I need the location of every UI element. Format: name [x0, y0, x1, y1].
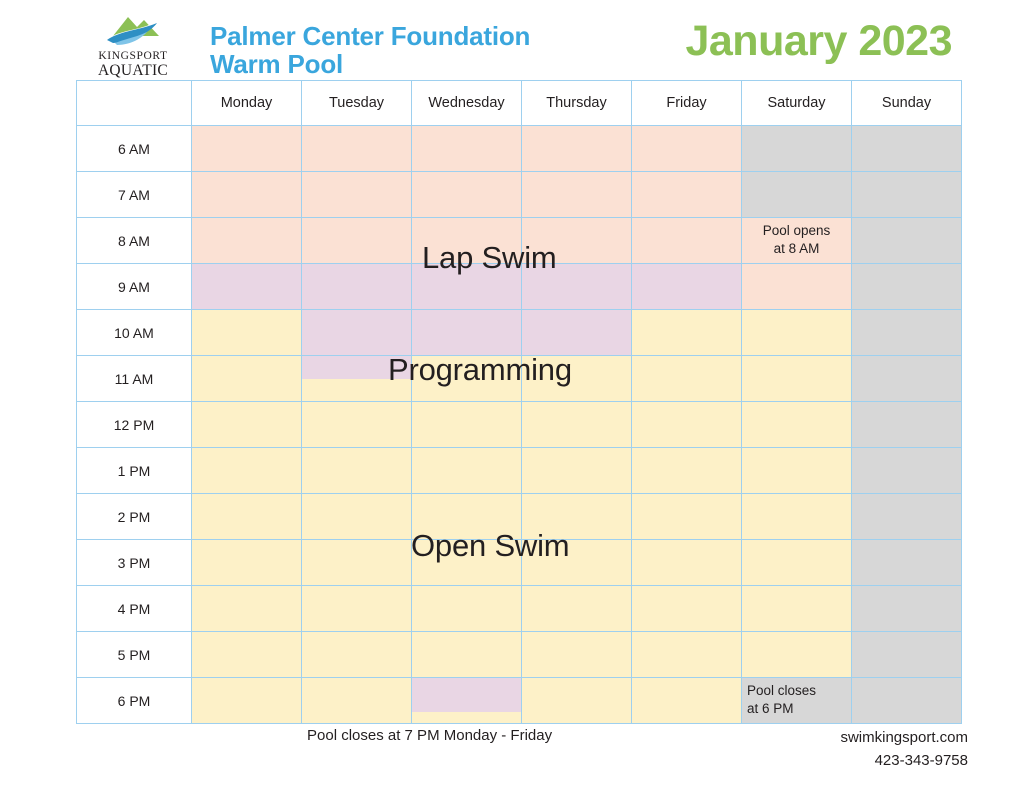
- slot-monday-9-am[interactable]: [192, 264, 302, 310]
- slot-monday-6-pm[interactable]: [192, 678, 302, 724]
- table-header-row: Monday Tuesday Wednesday Thursday Friday…: [77, 81, 962, 126]
- slot-wednesday-4-pm[interactable]: [412, 586, 522, 632]
- time-label-10-am: 10 AM: [77, 310, 192, 356]
- slot-monday-8-am[interactable]: [192, 218, 302, 264]
- time-label-6-pm: 6 PM: [77, 678, 192, 724]
- slot-saturday-1-pm[interactable]: [742, 448, 852, 494]
- slot-friday-4-pm[interactable]: [632, 586, 742, 632]
- slot-sunday-1-pm[interactable]: [852, 448, 962, 494]
- table-row: 6 PMPool closesat 6 PM: [77, 678, 962, 724]
- table-row: 12 PM: [77, 402, 962, 448]
- slot-sunday-6-am[interactable]: [852, 126, 962, 172]
- table-row: 4 PM: [77, 586, 962, 632]
- page-title-line-2: Warm Pool: [210, 50, 530, 78]
- slot-sunday-7-am[interactable]: [852, 172, 962, 218]
- header-cell-monday: Monday: [192, 81, 302, 126]
- slot-friday-6-pm[interactable]: [632, 678, 742, 724]
- time-label-4-pm: 4 PM: [77, 586, 192, 632]
- note-pool-closes-line-2: at 6 PM: [747, 700, 848, 718]
- time-label-6-am: 6 AM: [77, 126, 192, 172]
- slot-thursday-5-pm[interactable]: [522, 632, 632, 678]
- page-title-line-1: Palmer Center Foundation: [210, 22, 530, 50]
- slot-tuesday-6-pm[interactable]: [302, 678, 412, 724]
- slot-tuesday-10-am[interactable]: [302, 310, 412, 356]
- table-row: 1 PM: [77, 448, 962, 494]
- slot-thursday-10-am[interactable]: [522, 310, 632, 356]
- slot-saturday-5-pm[interactable]: [742, 632, 852, 678]
- slot-wednesday-5-pm[interactable]: [412, 632, 522, 678]
- time-label-2-pm: 2 PM: [77, 494, 192, 540]
- header-cell-friday: Friday: [632, 81, 742, 126]
- time-label-7-am: 7 AM: [77, 172, 192, 218]
- slot-tuesday-9-am[interactable]: [302, 264, 412, 310]
- slot-sunday-11-am[interactable]: [852, 356, 962, 402]
- schedule-body: 6 AM7 AM8 AMPool opensat 8 AM9 AM10 AM11…: [77, 126, 962, 724]
- slot-friday-6-am[interactable]: [632, 126, 742, 172]
- note-pool-opens-line-1: Pool opens: [745, 222, 848, 240]
- slot-sunday-6-pm[interactable]: [852, 678, 962, 724]
- slot-friday-1-pm[interactable]: [632, 448, 742, 494]
- header-cell-tuesday: Tuesday: [302, 81, 412, 126]
- band-label-programming: Programming: [388, 352, 572, 388]
- slot-thursday-12-pm[interactable]: [522, 402, 632, 448]
- slot-sunday-4-pm[interactable]: [852, 586, 962, 632]
- slot-saturday-8-am[interactable]: Pool opensat 8 AM: [742, 218, 852, 264]
- note-pool-opens: Pool opensat 8 AM: [742, 218, 851, 258]
- slot-saturday-9-am[interactable]: [742, 264, 852, 310]
- table-row: 7 AM: [77, 172, 962, 218]
- slot-tuesday-3-pm[interactable]: [302, 540, 412, 586]
- slot-wednesday-6-pm[interactable]: [412, 678, 522, 724]
- table-row: 10 AM: [77, 310, 962, 356]
- table-row: 6 AM: [77, 126, 962, 172]
- footer-closing-note: Pool closes at 7 PM Monday - Friday: [307, 727, 552, 744]
- note-pool-closes: Pool closesat 6 PM: [742, 678, 851, 718]
- time-label-8-am: 8 AM: [77, 218, 192, 264]
- slot-friday-11-am[interactable]: [632, 356, 742, 402]
- slot-monday-11-am[interactable]: [192, 356, 302, 402]
- slot-friday-8-am[interactable]: [632, 218, 742, 264]
- note-pool-closes-line-1: Pool closes: [747, 682, 848, 700]
- slot-friday-3-pm[interactable]: [632, 540, 742, 586]
- partial-programming-block: [412, 678, 521, 712]
- time-label-1-pm: 1 PM: [77, 448, 192, 494]
- slot-tuesday-2-pm[interactable]: [302, 494, 412, 540]
- header-cell-time: [77, 81, 192, 126]
- slot-saturday-12-pm[interactable]: [742, 402, 852, 448]
- slot-sunday-12-pm[interactable]: [852, 402, 962, 448]
- slot-thursday-6-am[interactable]: [522, 126, 632, 172]
- slot-saturday-4-pm[interactable]: [742, 586, 852, 632]
- slot-saturday-6-am[interactable]: [742, 126, 852, 172]
- slot-friday-7-am[interactable]: [632, 172, 742, 218]
- footer-contact: swimkingsport.com 423-343-9758: [840, 727, 968, 772]
- slot-friday-2-pm[interactable]: [632, 494, 742, 540]
- slot-wednesday-6-am[interactable]: [412, 126, 522, 172]
- slot-monday-4-pm[interactable]: [192, 586, 302, 632]
- slot-monday-3-pm[interactable]: [192, 540, 302, 586]
- slot-sunday-5-pm[interactable]: [852, 632, 962, 678]
- slot-wednesday-10-am[interactable]: [412, 310, 522, 356]
- slot-sunday-8-am[interactable]: [852, 218, 962, 264]
- time-label-12-pm: 12 PM: [77, 402, 192, 448]
- page-header: KINGSPORT AQUATIC CENTER Palmer Center F…: [0, 0, 1030, 72]
- slot-saturday-6-pm[interactable]: Pool closesat 6 PM: [742, 678, 852, 724]
- slot-monday-6-am[interactable]: [192, 126, 302, 172]
- slot-monday-7-am[interactable]: [192, 172, 302, 218]
- month-heading: January 2023: [685, 20, 952, 63]
- slot-monday-5-pm[interactable]: [192, 632, 302, 678]
- slot-monday-1-pm[interactable]: [192, 448, 302, 494]
- page-title: Palmer Center Foundation Warm Pool: [210, 22, 530, 78]
- slot-tuesday-6-am[interactable]: [302, 126, 412, 172]
- mountain-water-logo-icon: [87, 12, 179, 46]
- slot-monday-12-pm[interactable]: [192, 402, 302, 448]
- slot-thursday-6-pm[interactable]: [522, 678, 632, 724]
- slot-thursday-7-am[interactable]: [522, 172, 632, 218]
- slot-sunday-3-pm[interactable]: [852, 540, 962, 586]
- schedule-container: Monday Tuesday Wednesday Thursday Friday…: [76, 80, 954, 724]
- slot-tuesday-5-pm[interactable]: [302, 632, 412, 678]
- slot-wednesday-1-pm[interactable]: [412, 448, 522, 494]
- slot-monday-10-am[interactable]: [192, 310, 302, 356]
- slot-saturday-3-pm[interactable]: [742, 540, 852, 586]
- slot-wednesday-7-am[interactable]: [412, 172, 522, 218]
- time-label-9-am: 9 AM: [77, 264, 192, 310]
- slot-tuesday-4-pm[interactable]: [302, 586, 412, 632]
- note-pool-opens-line-2: at 8 AM: [745, 240, 848, 258]
- slot-tuesday-12-pm[interactable]: [302, 402, 412, 448]
- slot-friday-5-pm[interactable]: [632, 632, 742, 678]
- slot-sunday-9-am[interactable]: [852, 264, 962, 310]
- schedule-table: Monday Tuesday Wednesday Thursday Friday…: [76, 80, 962, 724]
- slot-sunday-10-am[interactable]: [852, 310, 962, 356]
- header-cell-saturday: Saturday: [742, 81, 852, 126]
- time-label-11-am: 11 AM: [77, 356, 192, 402]
- slot-saturday-11-am[interactable]: [742, 356, 852, 402]
- slot-thursday-1-pm[interactable]: [522, 448, 632, 494]
- slot-tuesday-8-am[interactable]: [302, 218, 412, 264]
- page-footer: Pool closes at 7 PM Monday - Friday swim…: [0, 722, 1030, 796]
- band-label-lap-swim: Lap Swim: [422, 240, 557, 276]
- header-cell-wednesday: Wednesday: [412, 81, 522, 126]
- time-label-5-pm: 5 PM: [77, 632, 192, 678]
- slot-tuesday-1-pm[interactable]: [302, 448, 412, 494]
- slot-monday-2-pm[interactable]: [192, 494, 302, 540]
- slot-friday-10-am[interactable]: [632, 310, 742, 356]
- time-label-3-pm: 3 PM: [77, 540, 192, 586]
- band-label-open-swim: Open Swim: [411, 528, 569, 564]
- slot-tuesday-7-am[interactable]: [302, 172, 412, 218]
- logo-line-1: KINGSPORT: [98, 50, 167, 62]
- slot-friday-12-pm[interactable]: [632, 402, 742, 448]
- slot-sunday-2-pm[interactable]: [852, 494, 962, 540]
- footer-website[interactable]: swimkingsport.com: [840, 727, 968, 750]
- slot-wednesday-12-pm[interactable]: [412, 402, 522, 448]
- footer-phone[interactable]: 423-343-9758: [840, 750, 968, 773]
- slot-saturday-10-am[interactable]: [742, 310, 852, 356]
- header-cell-sunday: Sunday: [852, 81, 962, 126]
- slot-friday-9-am[interactable]: [632, 264, 742, 310]
- header-cell-thursday: Thursday: [522, 81, 632, 126]
- slot-saturday-7-am[interactable]: [742, 172, 852, 218]
- slot-saturday-2-pm[interactable]: [742, 494, 852, 540]
- slot-thursday-4-pm[interactable]: [522, 586, 632, 632]
- table-row: 5 PM: [77, 632, 962, 678]
